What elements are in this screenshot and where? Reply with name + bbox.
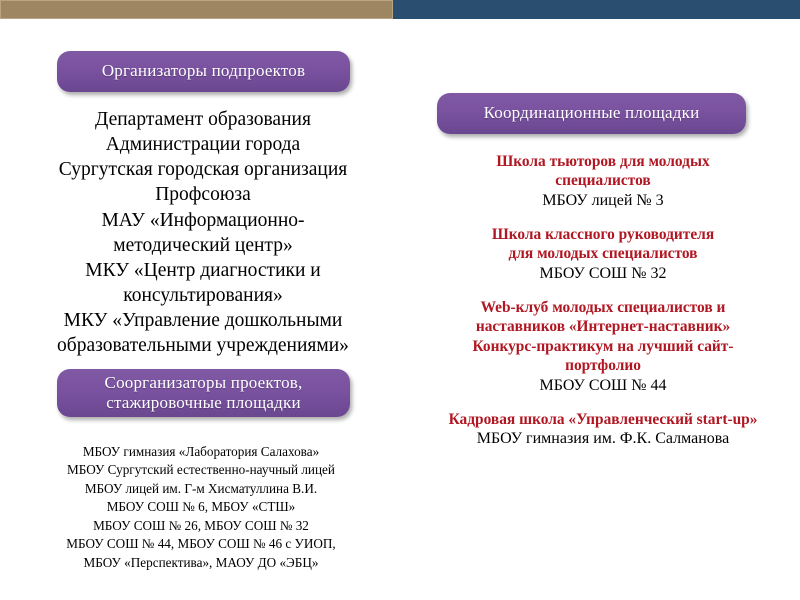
list-item: образовательными учреждениями» — [22, 333, 384, 358]
coorganizers-banner-line2: стажировочные площадки — [106, 393, 301, 412]
coordination-group-heading: Школа классного руководителя — [408, 225, 798, 244]
list-item: Сургутская городская организация — [22, 157, 384, 182]
list-item: МКУ «Центр диагностики и — [22, 258, 384, 283]
list-item: МБОУ Сургутский естественно-научный лице… — [14, 461, 388, 479]
list-item: Администрации города — [22, 132, 384, 157]
coordination-group-heading: портфолио — [408, 356, 798, 375]
list-item: Профсоюза — [22, 182, 384, 207]
coordination-group-heading: Кадровая школа «Управленческий start-up» — [408, 410, 798, 429]
coordination-banner-label: Координационные площадки — [484, 103, 700, 123]
coordination-group-heading: Web-клуб молодых специалистов и — [408, 298, 798, 317]
coordination-group: Школа тьюторов для молодых специалистов … — [408, 152, 798, 211]
coordination-group-heading: Конкурс-практикум на лучший сайт- — [408, 337, 798, 356]
list-item: МБОУ лицей им. Г-м Хисматуллина В.И. — [14, 480, 388, 498]
coordination-group-school: МБОУ СОШ № 32 — [408, 264, 798, 284]
list-item: методический центр» — [22, 233, 384, 258]
coorganizers-list: МБОУ гимназия «Лаборатория Салахова» МБО… — [14, 443, 388, 572]
organizers-banner: Организаторы подпроектов — [57, 51, 350, 92]
coordination-group: Школа классного руководителя для молодых… — [408, 225, 798, 284]
list-item: консультирования» — [22, 283, 384, 308]
coordination-group-heading: специалистов — [408, 171, 798, 190]
list-item: МКУ «Управление дошкольными — [22, 308, 384, 333]
list-item: МБОУ «Перспектива», МАОУ ДО «ЭБЦ» — [14, 554, 388, 572]
top-bar-gold-segment — [0, 0, 393, 19]
top-decorative-bar — [0, 0, 800, 19]
coorganizers-banner-line1: Соорганизаторы проектов, — [105, 373, 303, 392]
coordination-group: Web-клуб молодых специалистов и наставни… — [408, 298, 798, 396]
organizers-banner-label: Организаторы подпроектов — [102, 61, 305, 81]
list-item: МБОУ СОШ № 6, МБОУ «СТШ» — [14, 498, 388, 516]
coordination-group: Кадровая школа «Управленческий start-up»… — [408, 410, 798, 450]
coordination-group-school: МБОУ СОШ № 44 — [408, 376, 798, 396]
list-item: МБОУ гимназия «Лаборатория Салахова» — [14, 443, 388, 461]
coordination-banner: Координационные площадки — [437, 93, 746, 134]
organizers-list: Департамент образования Администрации го… — [22, 107, 384, 358]
list-item: МБОУ СОШ № 44, МБОУ СОШ № 46 с УИОП, — [14, 535, 388, 553]
coordination-group-school: МБОУ гимназия им. Ф.К. Салманова — [408, 429, 798, 449]
list-item: Департамент образования — [22, 107, 384, 132]
coordination-list: Школа тьюторов для молодых специалистов … — [408, 152, 798, 449]
coordination-group-heading: для молодых специалистов — [408, 244, 798, 263]
list-item: МАУ «Информационно- — [22, 208, 384, 233]
top-bar-blue-segment — [393, 0, 800, 19]
coorganizers-banner: Соорганизаторы проектов, стажировочные п… — [57, 369, 350, 417]
coordination-group-school: МБОУ лицей № 3 — [408, 191, 798, 211]
list-item: МБОУ СОШ № 26, МБОУ СОШ № 32 — [14, 517, 388, 535]
coorganizers-banner-label: Соорганизаторы проектов, стажировочные п… — [105, 373, 303, 413]
coordination-group-heading: Школа тьюторов для молодых — [408, 152, 798, 171]
coordination-group-heading: наставников «Интернет-наставник» — [408, 317, 798, 336]
